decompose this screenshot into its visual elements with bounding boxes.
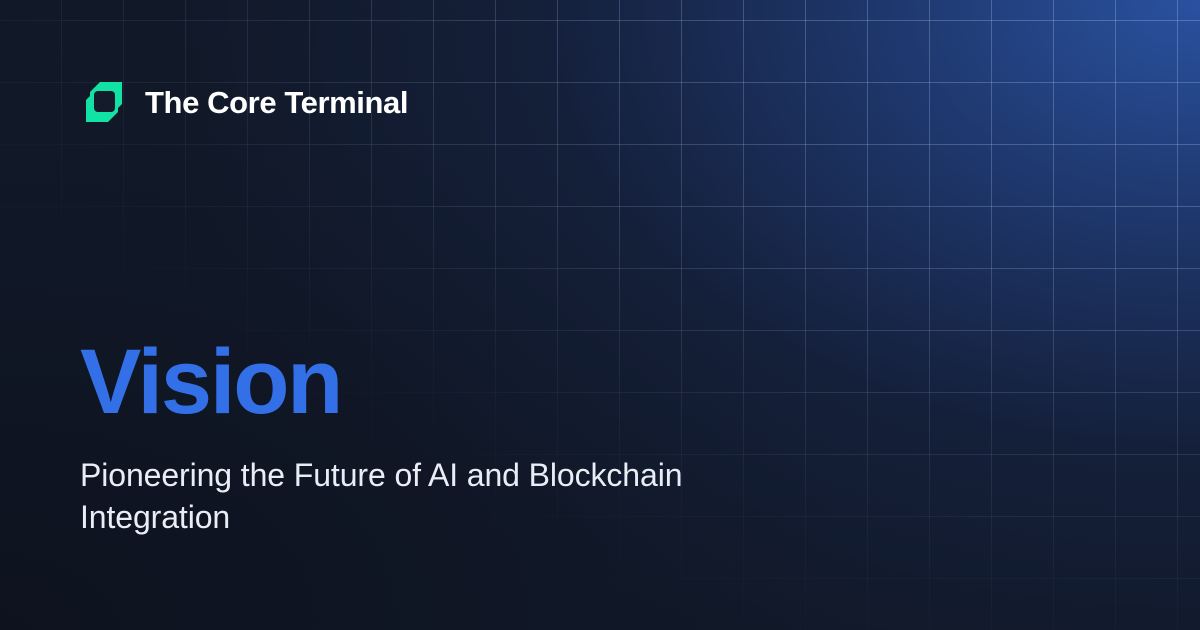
hero-content: Vision Pioneering the Future of AI and B…: [80, 336, 880, 538]
brand-name: The Core Terminal: [145, 87, 408, 118]
core-octagon-logo-icon: [80, 78, 128, 126]
page-title: Vision: [80, 336, 880, 428]
og-image-canvas: The Core Terminal Vision Pioneering the …: [0, 0, 1200, 630]
brand-lockup: The Core Terminal: [80, 78, 408, 126]
page-subtitle: Pioneering the Future of AI and Blockcha…: [80, 454, 840, 538]
